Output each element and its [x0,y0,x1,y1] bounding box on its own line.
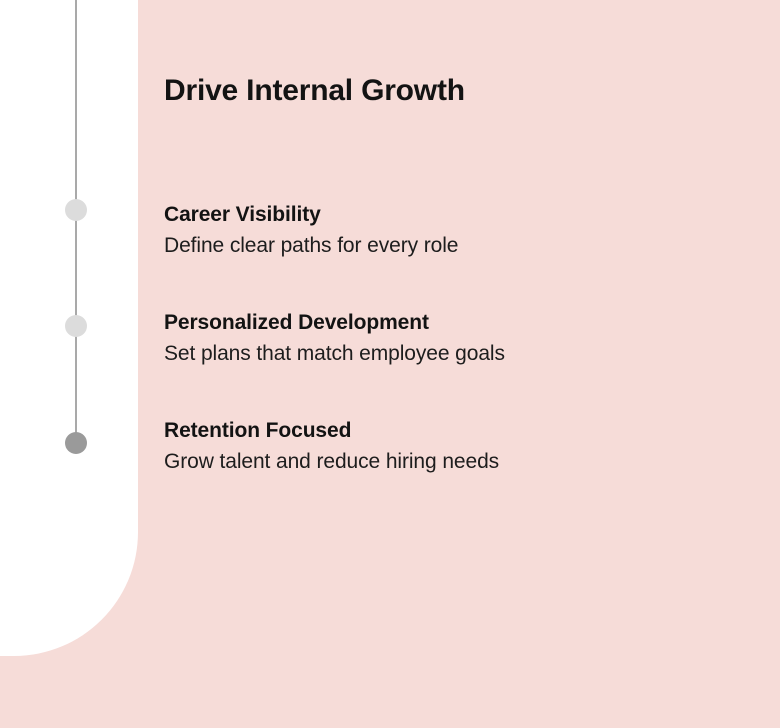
item-list: Career Visibility Define clear paths for… [164,200,764,477]
timeline-connector-line [75,0,77,444]
list-item: Retention Focused Grow talent and reduce… [164,416,764,477]
list-item-subtitle: Set plans that match employee goals [164,338,764,369]
list-item: Career Visibility Define clear paths for… [164,200,764,261]
list-item-title: Retention Focused [164,416,764,446]
timeline-dot-2[interactable] [65,315,87,337]
page-title: Drive Internal Growth [164,74,465,108]
timeline-dot-1[interactable] [65,199,87,221]
timeline-rail-group [0,0,138,656]
list-item-subtitle: Define clear paths for every role [164,230,764,261]
list-item-title: Career Visibility [164,200,764,230]
slide-canvas: Drive Internal Growth Career Visibility … [0,0,780,728]
list-item-title: Personalized Development [164,308,764,338]
timeline-dot-3[interactable] [65,432,87,454]
list-item-subtitle: Grow talent and reduce hiring needs [164,446,764,477]
list-item: Personalized Development Set plans that … [164,308,764,369]
